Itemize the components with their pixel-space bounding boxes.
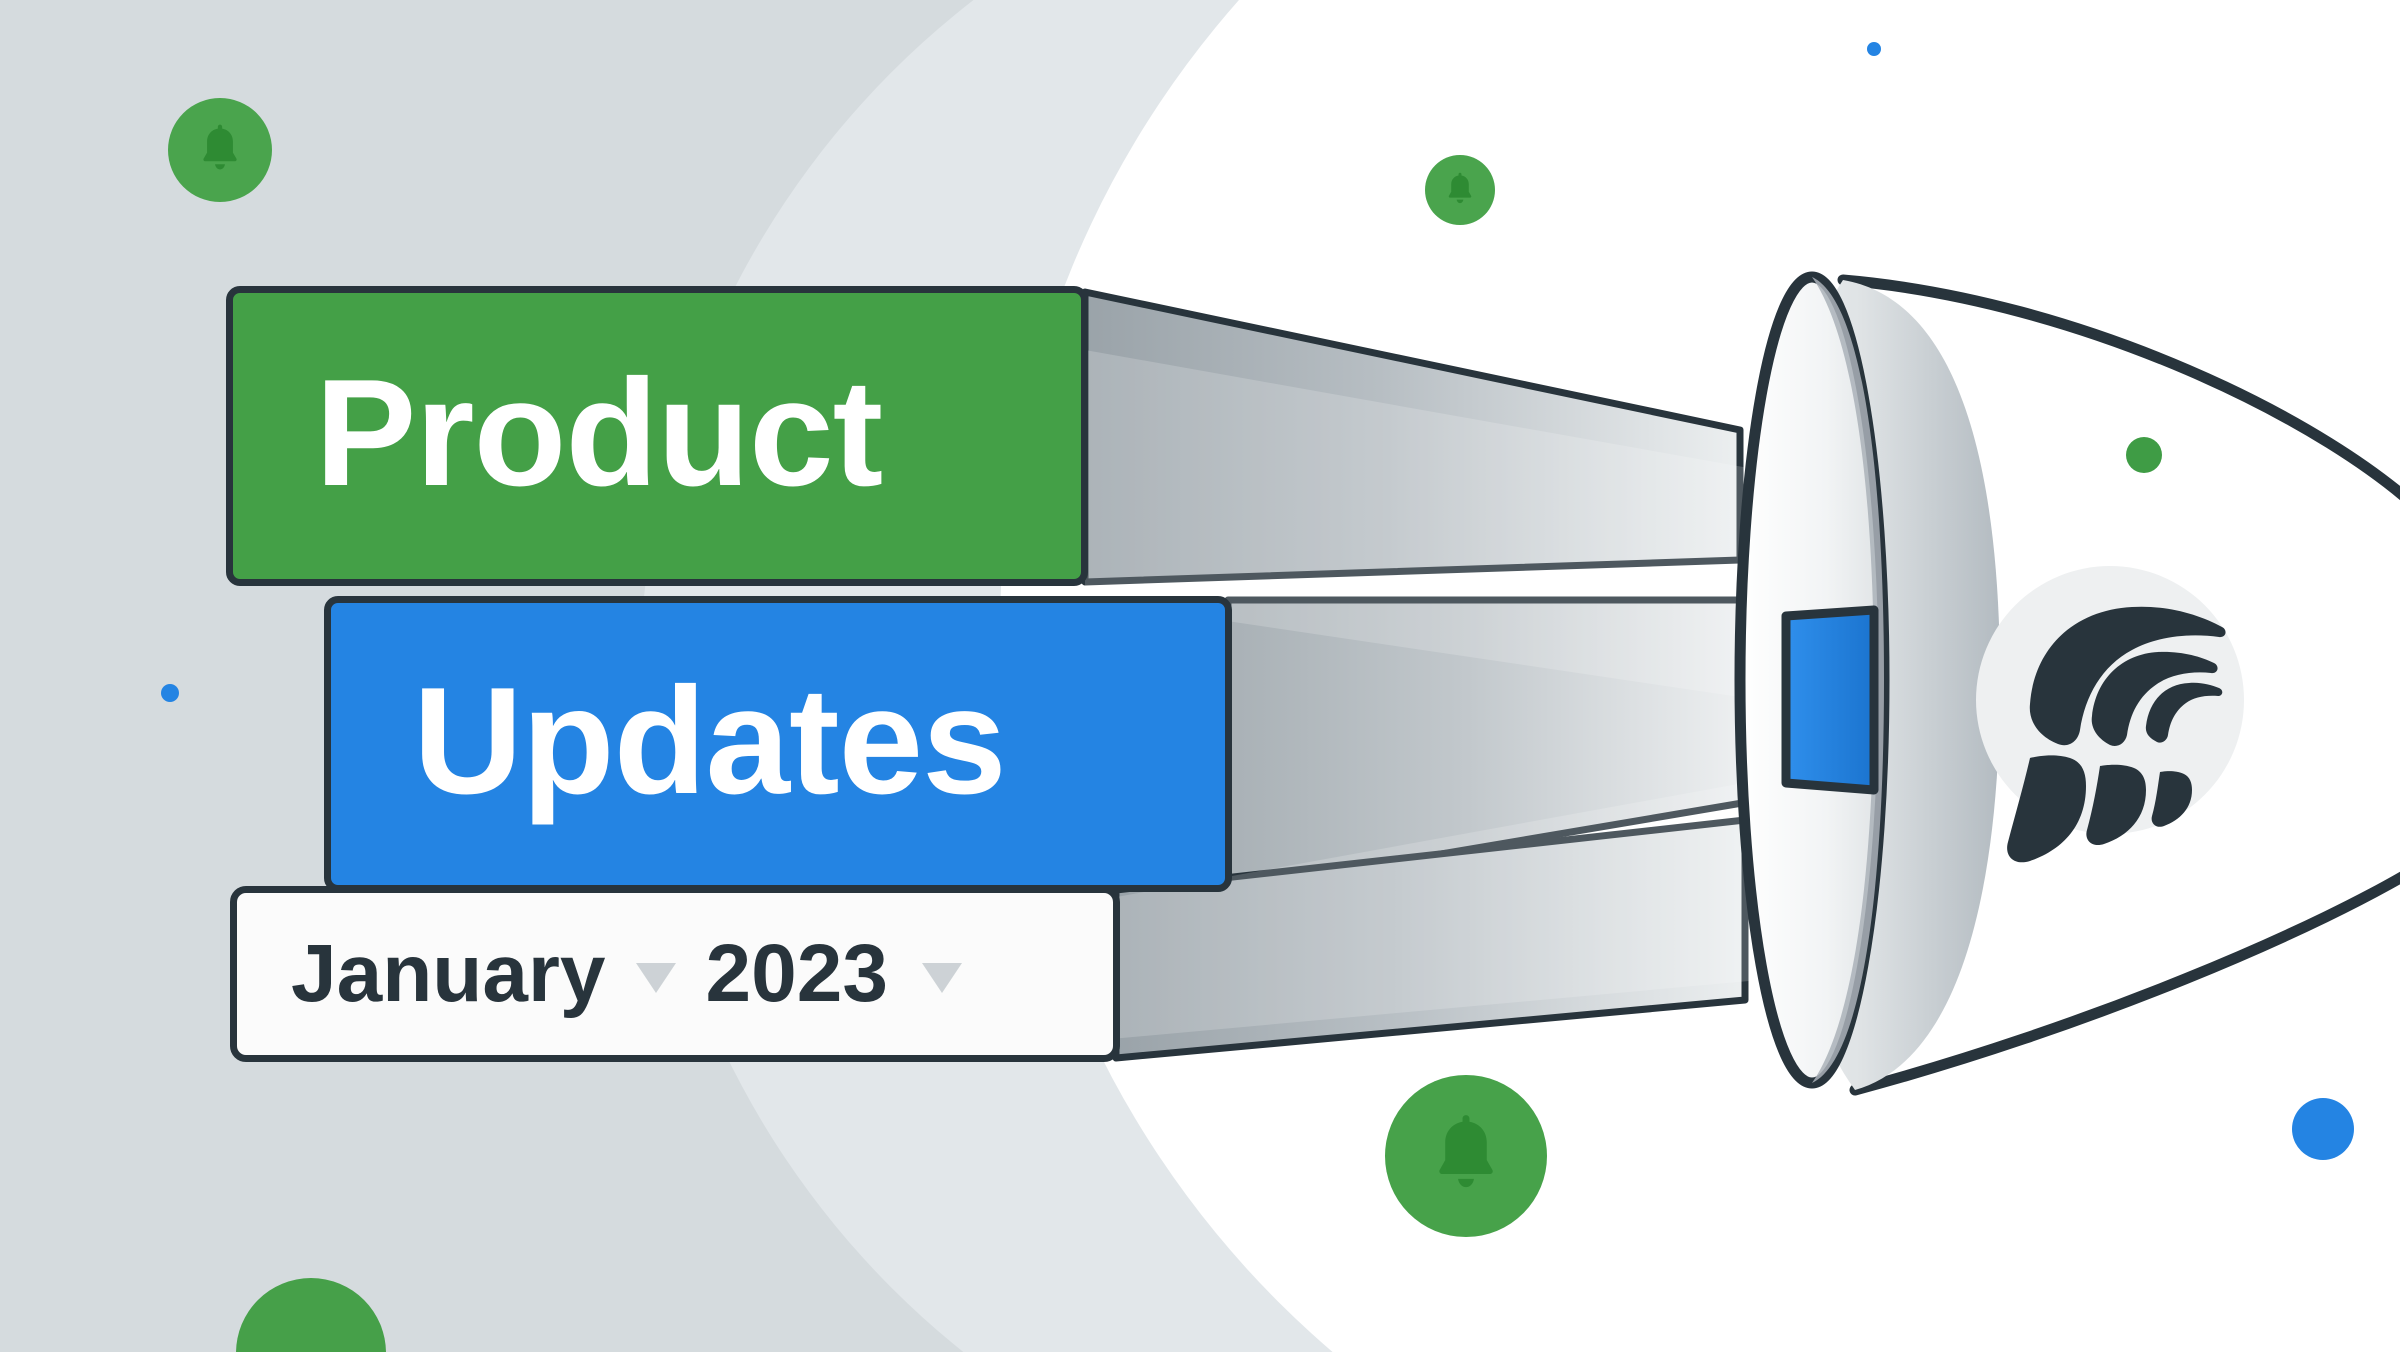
product-title-card: Product	[226, 286, 1088, 586]
date-selector-row: January 2023	[291, 933, 962, 1015]
month-value[interactable]: January	[291, 933, 606, 1015]
date-selector-card[interactable]: January 2023	[230, 886, 1120, 1062]
product-updates-banner: Product Updates January 2023	[0, 0, 2400, 1352]
title-line-updates: Updates	[413, 665, 1006, 817]
notification-bell-badge-mid	[1425, 155, 1495, 225]
blue-dot-bottom-right	[2292, 1098, 2354, 1160]
green-dot-handle	[2126, 437, 2162, 473]
blue-dot-left	[161, 684, 179, 702]
title-line-product: Product	[315, 357, 882, 509]
updates-title-card: Updates	[324, 596, 1232, 892]
notification-bell-icon	[1442, 171, 1478, 209]
chevron-down-icon-month[interactable]	[636, 963, 676, 993]
notification-bell-icon	[1424, 1111, 1508, 1201]
notification-bell-icon	[194, 122, 246, 178]
megaphone-blue-switch	[1786, 610, 1874, 790]
notification-bell-badge-bottom	[1385, 1075, 1547, 1237]
blue-dot-top	[1867, 42, 1881, 56]
notification-bell-badge-top-left	[168, 98, 272, 202]
chevron-down-icon-year[interactable]	[922, 963, 962, 993]
year-value[interactable]: 2023	[706, 933, 888, 1015]
